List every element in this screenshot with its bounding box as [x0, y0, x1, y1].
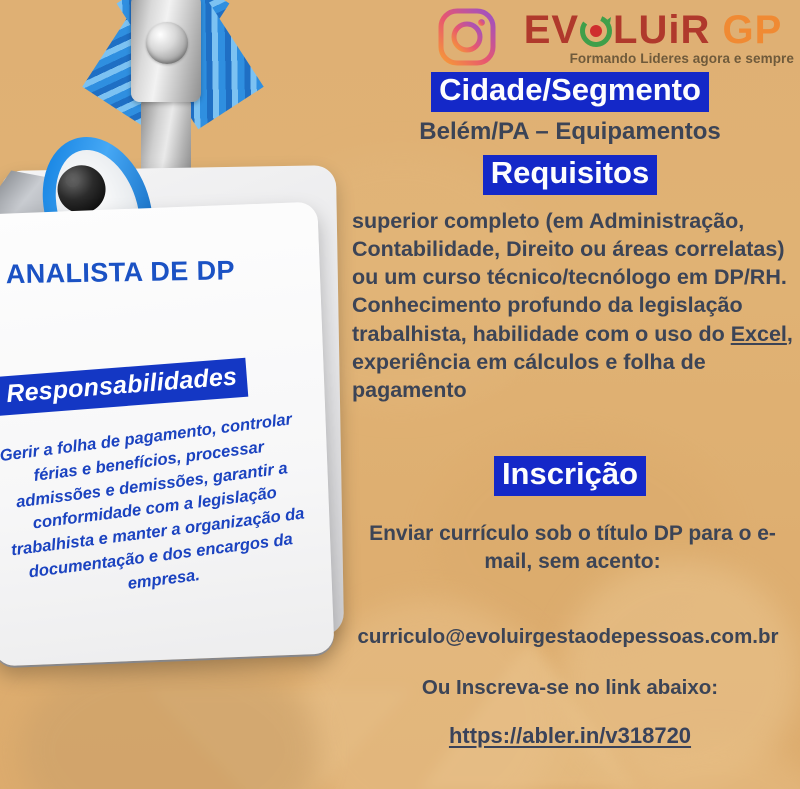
- badge-clip-rivet-icon: [146, 22, 188, 64]
- brand-logo: EVLUiR GP Formando Lideres agora e sempr…: [508, 10, 798, 66]
- application-email[interactable]: curriculo@evoluirgestaodepessoas.com.br: [328, 625, 800, 649]
- logo-part-luir: LUiR: [613, 8, 710, 52]
- job-detail-card: ANALISTA DE DP Responsabilidades Gerir a…: [0, 202, 335, 667]
- brand-logo-text: EVLUiR GP: [508, 10, 798, 50]
- city-value: Belém/PA – Equipamentos: [340, 118, 800, 146]
- link-intro-text: Ou Inscreva-se no link abaixo:: [340, 676, 800, 700]
- application-body: Enviar currículo sob o título DP para o …: [350, 520, 795, 576]
- responsibilities-body: Gerir a folha de pagamento, controlar fé…: [0, 408, 314, 611]
- city-section: Cidade/Segmento: [340, 72, 800, 112]
- requirements-heading: Requisitos: [483, 155, 657, 195]
- requirements-text-before: superior completo (em Administração, Con…: [352, 209, 787, 346]
- application-section: Inscrição: [340, 456, 800, 496]
- logo-part-ev: EV: [524, 8, 579, 52]
- requirements-body: superior completo (em Administração, Con…: [352, 207, 800, 404]
- application-heading: Inscrição: [494, 456, 646, 496]
- job-posting-poster: ANALISTA DE DP Responsabilidades Gerir a…: [0, 0, 800, 789]
- requirements-section: Requisitos: [340, 155, 800, 195]
- logo-part-gp: GP: [723, 8, 783, 52]
- brand-tagline: Formando Lideres agora e sempre: [508, 51, 798, 66]
- responsibilities-heading: Responsabilidades: [0, 358, 249, 416]
- logo-o-mark-icon: [579, 14, 613, 48]
- page-title: ANALISTA DE DP: [6, 255, 236, 290]
- instagram-icon[interactable]: [436, 6, 498, 68]
- requirements-excel-highlight: Excel: [731, 322, 787, 346]
- city-heading: Cidade/Segmento: [431, 72, 709, 112]
- application-link[interactable]: https://abler.in/v318720: [340, 723, 800, 749]
- details-column: EVLUiR GP Formando Lideres agora e sempr…: [340, 0, 800, 789]
